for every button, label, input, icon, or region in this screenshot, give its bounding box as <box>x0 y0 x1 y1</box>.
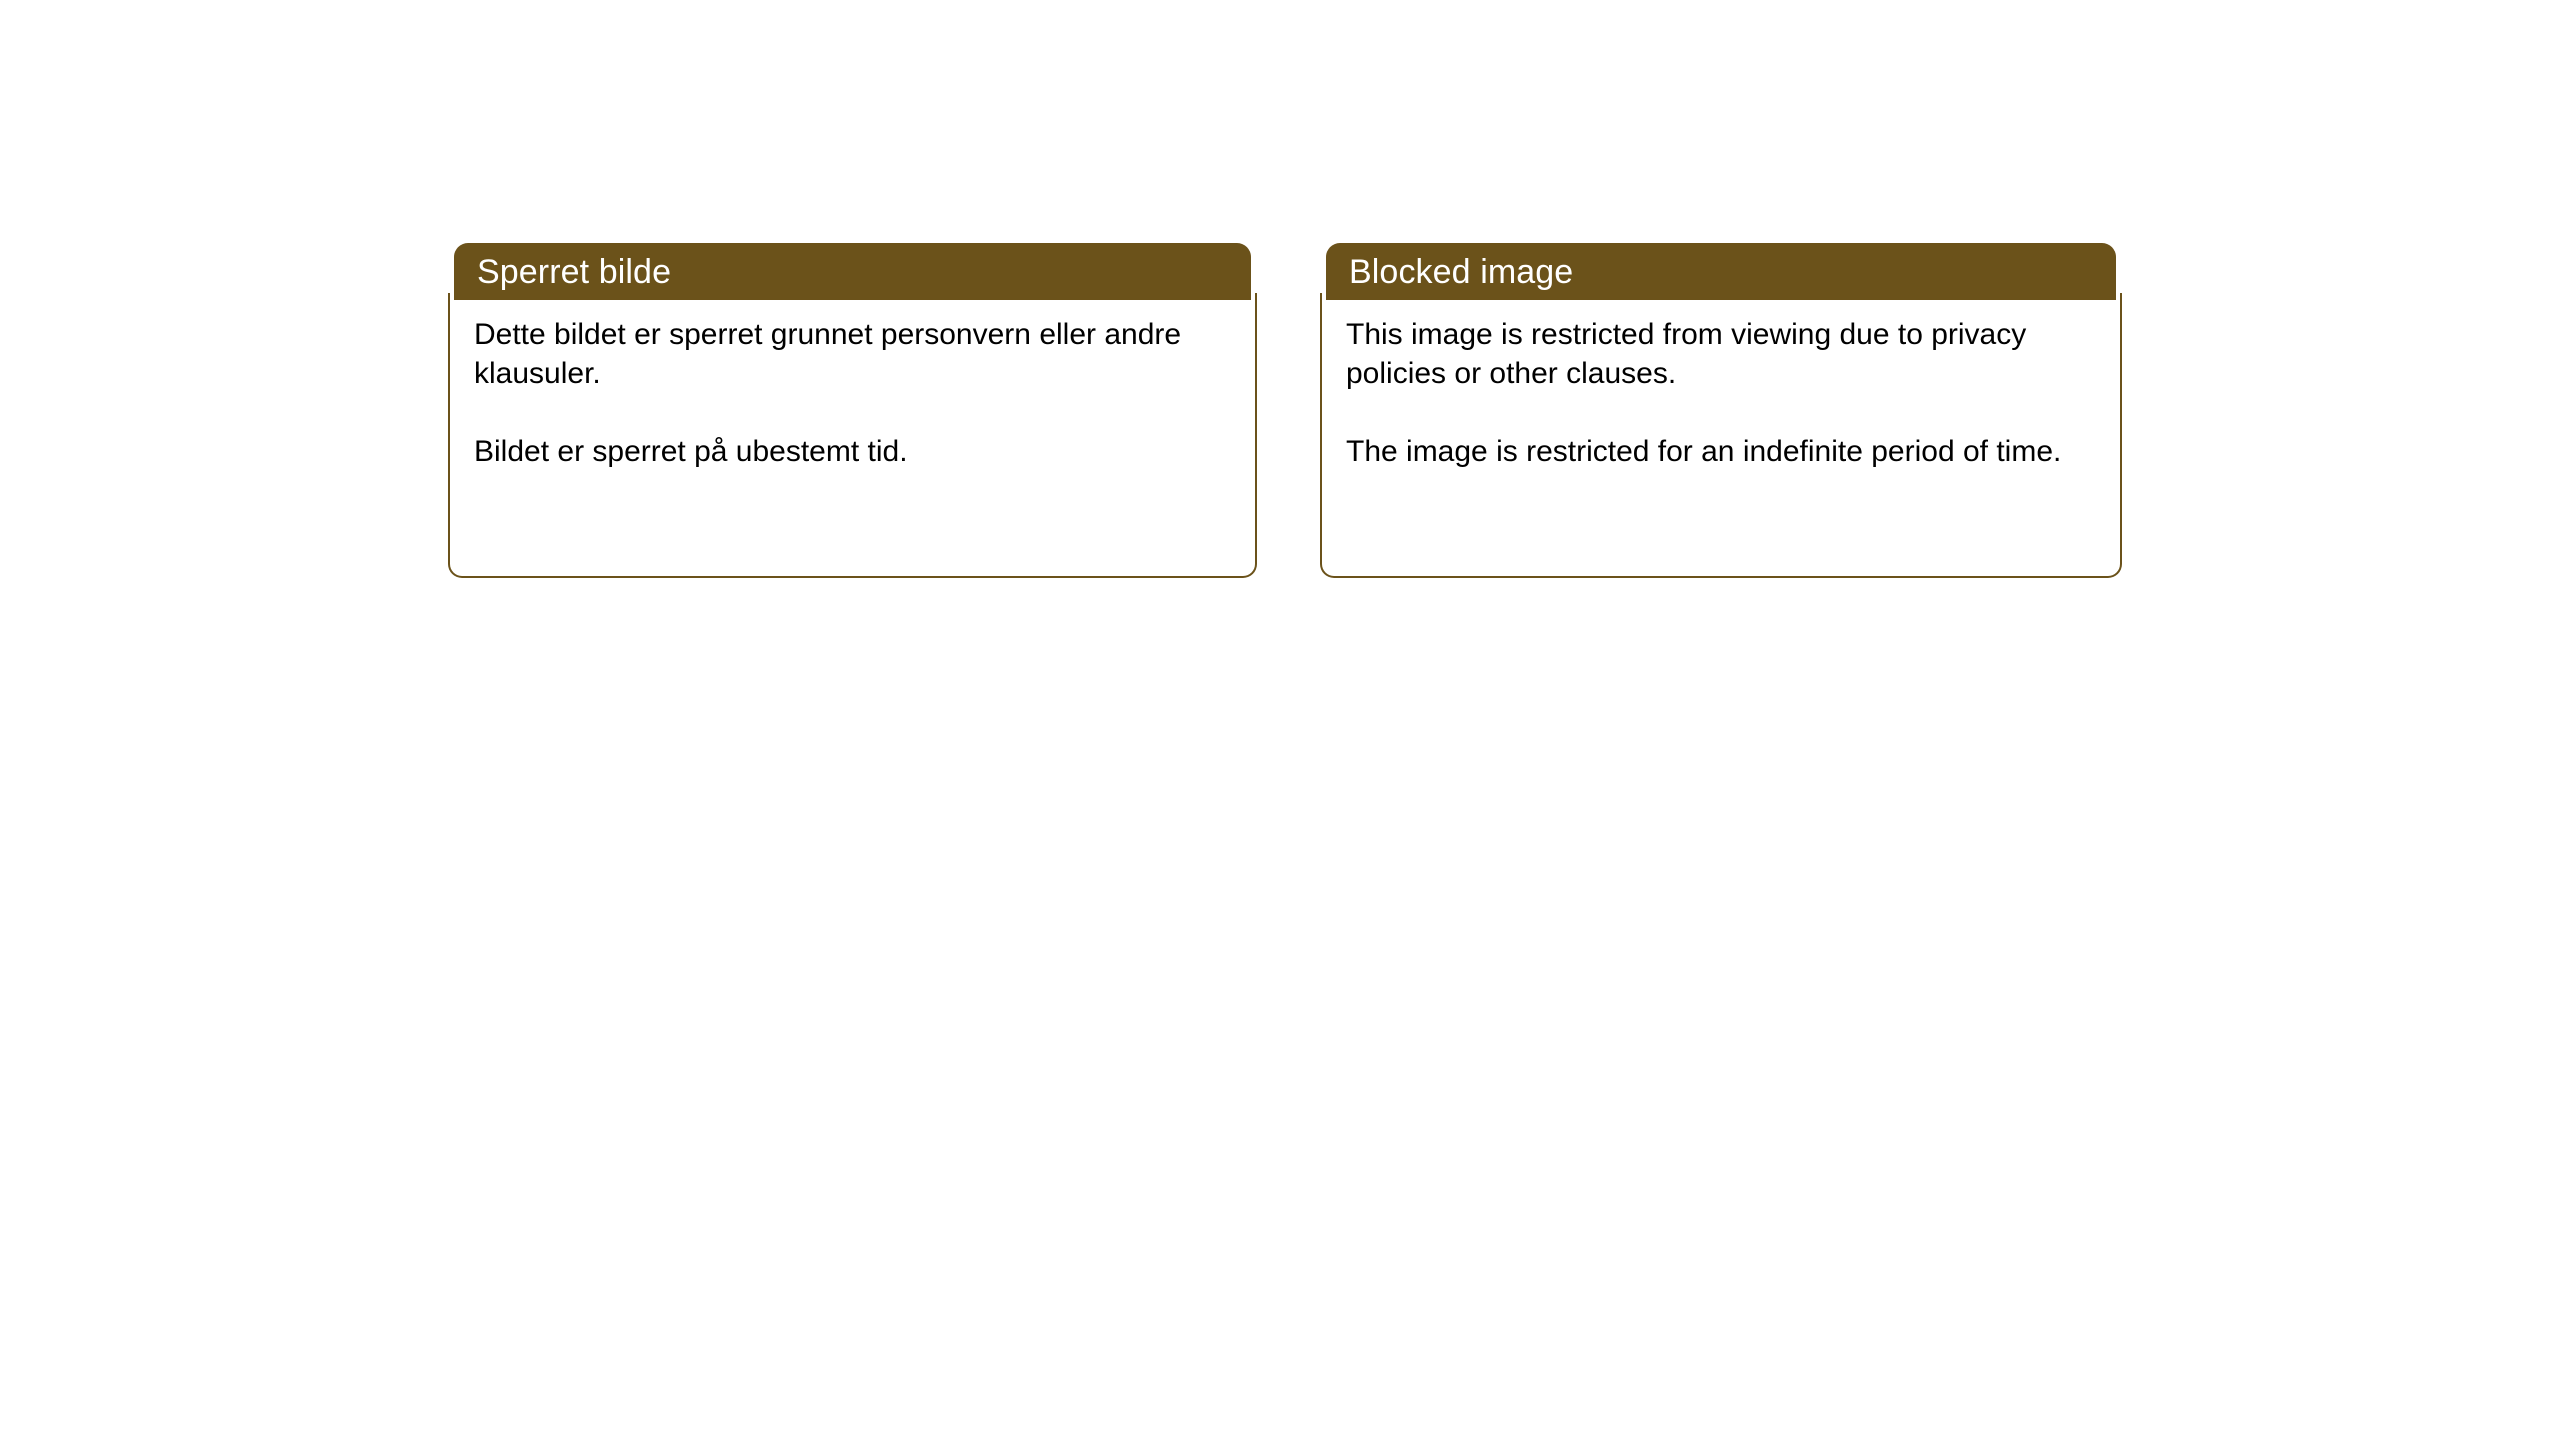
panel-paragraph-no-1: Dette bildet er sperret grunnet personve… <box>474 316 1231 393</box>
panel-paragraph-no-2: Bildet er sperret på ubestemt tid. <box>474 433 1231 472</box>
panel-body-no: Dette bildet er sperret grunnet personve… <box>448 293 1257 578</box>
blocked-image-notice-no: Sperret bilde Dette bildet er sperret gr… <box>448 243 1257 578</box>
blocked-image-notice-en: Blocked image This image is restricted f… <box>1320 243 2122 578</box>
panel-paragraph-en-1: This image is restricted from viewing du… <box>1346 316 2096 393</box>
page-canvas: Sperret bilde Dette bildet er sperret gr… <box>0 0 2560 1440</box>
panel-header-en: Blocked image <box>1326 243 2116 300</box>
panel-title-no: Sperret bilde <box>454 255 671 289</box>
panel-paragraph-en-2: The image is restricted for an indefinit… <box>1346 433 2096 472</box>
panel-header-no: Sperret bilde <box>454 243 1251 300</box>
panel-title-en: Blocked image <box>1326 255 1573 289</box>
panel-body-en: This image is restricted from viewing du… <box>1320 293 2122 578</box>
